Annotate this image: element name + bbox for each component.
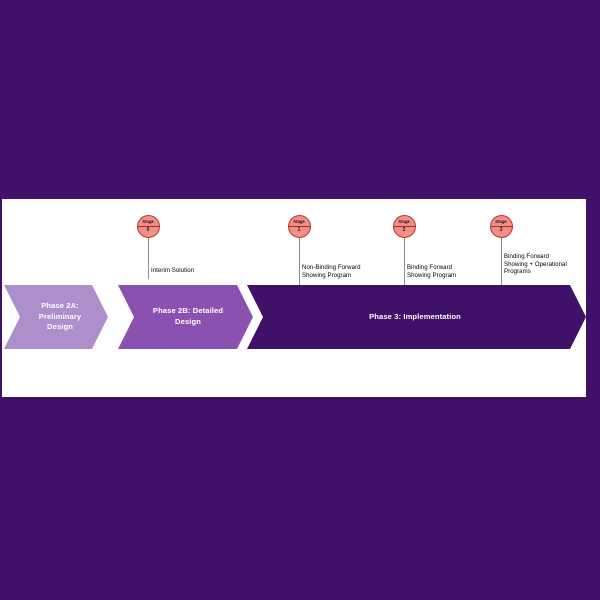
stage-3-number: 3 [500, 227, 503, 233]
stage-0-word: Stage [142, 219, 153, 224]
stage-0-number: 0 [147, 227, 150, 233]
stage-2-number: 2 [403, 227, 406, 233]
stage-1-number: 1 [298, 227, 301, 233]
timeline-panel: Phase 2A: Preliminary Design Phase 2B: D… [2, 199, 586, 397]
stage-3-description: Binding Forward Showing + Operational Pr… [504, 253, 590, 276]
stage-1-word: Stage [293, 219, 304, 224]
milestone-stage-3[interactable]: Stage 3 Binding Forward Showing + Operat… [2, 199, 586, 397]
stage-2-word: Stage [398, 219, 409, 224]
stage-3-marker[interactable]: Stage 3 [490, 215, 513, 238]
diagram-canvas: Phase 2A: Preliminary Design Phase 2B: D… [0, 0, 600, 600]
stage-3-word: Stage [495, 219, 506, 224]
